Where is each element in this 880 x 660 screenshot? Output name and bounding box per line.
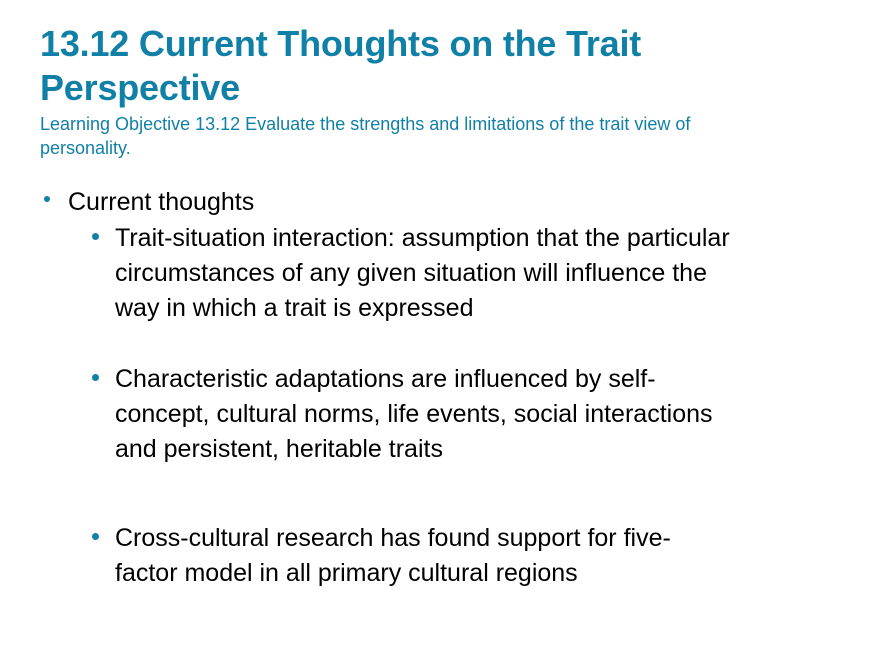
bullet-spacer [40,467,850,521]
bullet-dot-icon [92,374,99,381]
title-block: 13.12 Current Thoughts on the Trait Pers… [40,22,840,160]
list-item: Cross-cultural research has found suppor… [40,521,850,591]
list-item: Characteristic adaptations are influence… [40,362,850,467]
bullet-spacer [40,326,850,362]
bullet-dot-icon [92,533,99,540]
list-item: Trait-situation interaction: assumption … [40,221,850,326]
bullet-text: Trait-situation interaction: assumption … [115,224,730,322]
bullet-list: Current thoughts Trait-situation interac… [40,185,850,591]
page-title: 13.12 Current Thoughts on the Trait Pers… [40,22,840,110]
bullet-text: Characteristic adaptations are influence… [115,365,713,463]
bullet-dot-icon [92,233,99,240]
bullet-text: Cross-cultural research has found suppor… [115,524,671,587]
bullet-dot-icon [44,196,50,202]
bullet-text: Current thoughts [68,188,254,216]
list-item: Current thoughts [40,185,850,219]
learning-objective-subtitle: Learning Objective 13.12 Evaluate the st… [40,110,840,160]
slide-canvas: 13.12 Current Thoughts on the Trait Pers… [0,0,880,660]
